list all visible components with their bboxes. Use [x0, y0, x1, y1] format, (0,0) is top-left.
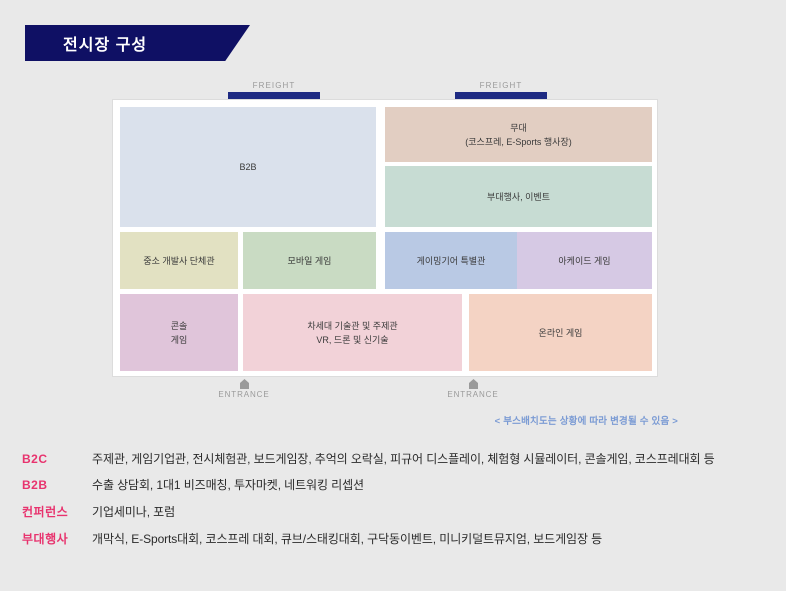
- zone-label: B2B: [239, 160, 256, 174]
- legend: B2C 주제관, 게임기업관, 전시체험관, 보드게임장, 추억의 오락실, 피…: [22, 451, 772, 557]
- floor-map-grid: B2B 무대 (코스프레, E-Sports 행사장) 부대행사, 이벤트 중소…: [120, 107, 650, 369]
- zone-label: 부대행사, 이벤트: [487, 190, 550, 204]
- entrance-label: ENTRANCE: [204, 390, 284, 400]
- legend-term: 컨퍼런스: [22, 503, 92, 520]
- zone-sme-pavilion[interactable]: 중소 개발사 단체관: [120, 232, 238, 289]
- zone-label: 게이밍기어 특별관: [417, 254, 486, 268]
- zone-label: 무대 (코스프레, E-Sports 행사장): [465, 121, 571, 149]
- zone-label: 차세대 기술관 및 주제관 VR, 드론 및 신기술: [307, 319, 397, 347]
- legend-description: 기업세미나, 포럼: [92, 504, 175, 520]
- freight-label: FREIGHT: [455, 80, 547, 91]
- freight-bar: [455, 92, 547, 99]
- freight-marker-left: FREIGHT: [228, 80, 320, 99]
- section-banner: 전시장 구성: [25, 25, 250, 61]
- exhibition-floor-map: B2B 무대 (코스프레, E-Sports 행사장) 부대행사, 이벤트 중소…: [112, 99, 658, 377]
- page-title: 전시장 구성: [63, 31, 147, 55]
- zone-label: 중소 개발사 단체관: [143, 254, 214, 268]
- entrance-label: ENTRANCE: [433, 390, 513, 400]
- zone-arcade-game[interactable]: 아케이드 게임: [517, 232, 652, 289]
- legend-row: 부대행사 개막식, E-Sports대회, 코스프레 대회, 큐브/스태킹대회,…: [22, 530, 772, 547]
- legend-term: 부대행사: [22, 530, 92, 547]
- zone-online-game[interactable]: 온라인 게임: [469, 294, 652, 371]
- freight-bar: [228, 92, 320, 99]
- freight-label: FREIGHT: [228, 80, 320, 91]
- zone-next-gen-tech[interactable]: 차세대 기술관 및 주제관 VR, 드론 및 신기술: [243, 294, 462, 371]
- zone-label: 온라인 게임: [539, 326, 583, 340]
- legend-row: B2C 주제관, 게임기업관, 전시체험관, 보드게임장, 추억의 오락실, 피…: [22, 451, 772, 467]
- zone-gaming-gear[interactable]: 게이밍기어 특별관: [385, 232, 517, 289]
- map-disclaimer-note: < 부스배치도는 상황에 따라 변경될 수 있음 >: [495, 413, 678, 427]
- legend-description: 주제관, 게임기업관, 전시체험관, 보드게임장, 추억의 오락실, 피규어 디…: [92, 451, 715, 467]
- legend-description: 개막식, E-Sports대회, 코스프레 대회, 큐브/스태킹대회, 구닥동이…: [92, 531, 602, 547]
- entrance-marker-icon: [240, 379, 249, 389]
- legend-term: B2C: [22, 452, 92, 466]
- zone-stage[interactable]: 무대 (코스프레, E-Sports 행사장): [385, 107, 652, 162]
- legend-row: B2B 수출 상담회, 1대1 비즈매칭, 투자마켓, 네트워킹 리셉션: [22, 477, 772, 493]
- zone-mobile-game[interactable]: 모바일 게임: [243, 232, 376, 289]
- entrance-marker-right: ENTRANCE: [433, 379, 513, 400]
- zone-label: 아케이드 게임: [558, 254, 610, 268]
- zone-label: 콘솔 게임: [171, 319, 188, 347]
- entrance-marker-icon: [469, 379, 478, 389]
- zone-side-events[interactable]: 부대행사, 이벤트: [385, 166, 652, 227]
- zone-b2b[interactable]: B2B: [120, 107, 376, 227]
- zone-console-game[interactable]: 콘솔 게임: [120, 294, 238, 371]
- entrance-marker-left: ENTRANCE: [204, 379, 284, 400]
- legend-description: 수출 상담회, 1대1 비즈매칭, 투자마켓, 네트워킹 리셉션: [92, 477, 364, 493]
- legend-row: 컨퍼런스 기업세미나, 포럼: [22, 503, 772, 520]
- legend-term: B2B: [22, 478, 92, 492]
- freight-marker-right: FREIGHT: [455, 80, 547, 99]
- zone-label: 모바일 게임: [288, 254, 332, 268]
